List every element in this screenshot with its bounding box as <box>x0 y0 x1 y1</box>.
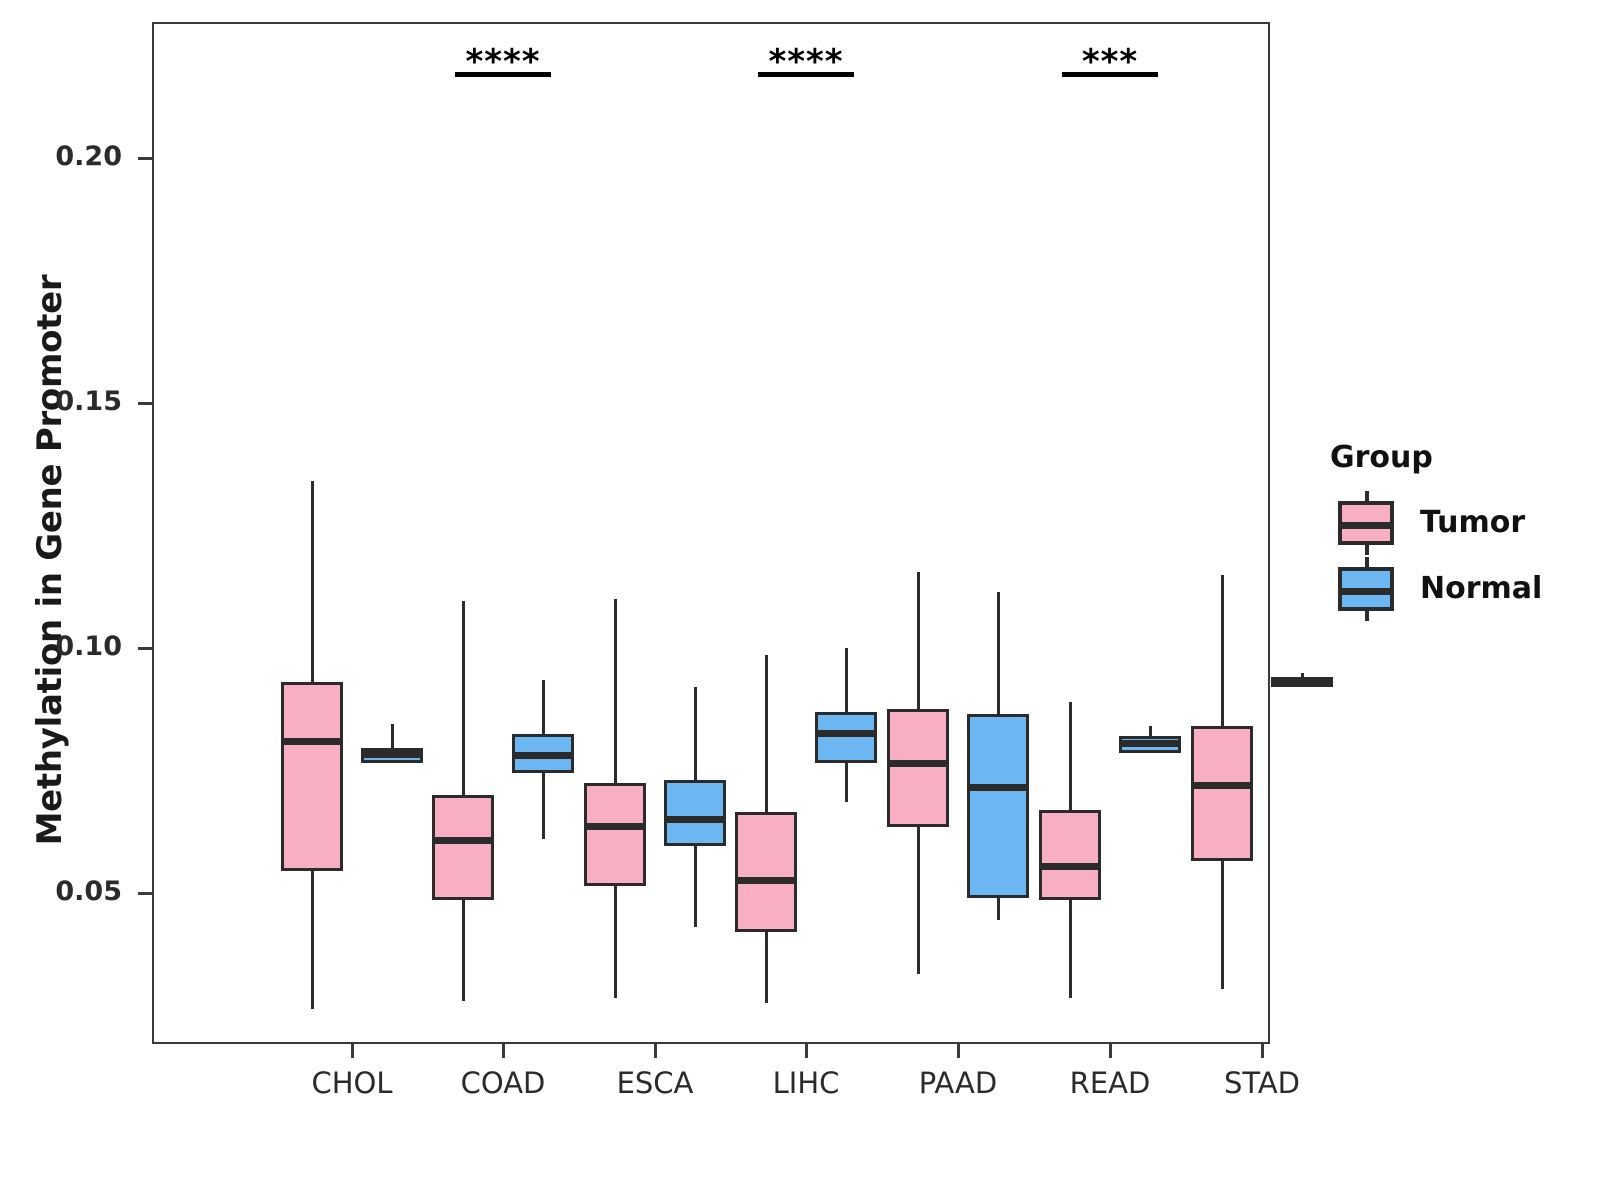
box-rect <box>735 812 797 932</box>
plot-panel <box>152 22 1270 1044</box>
y-axis-tick-label: 0.15 <box>12 386 122 417</box>
box-rect <box>1191 726 1253 861</box>
significance-stars-coad: **** <box>413 45 593 79</box>
box-rect <box>1039 810 1101 901</box>
median-line <box>967 784 1029 791</box>
legend-item-normal[interactable]: Normal <box>1330 559 1590 625</box>
box-rect <box>887 709 949 827</box>
x-axis-tick <box>502 1044 505 1058</box>
legend-whisker-top <box>1365 491 1369 505</box>
legend-key-tumor <box>1338 501 1394 545</box>
legend-label-normal: Normal <box>1420 567 1542 611</box>
y-axis-tick <box>138 647 152 650</box>
x-axis-tick <box>351 1044 354 1058</box>
legend-whisker-top <box>1365 557 1369 571</box>
box-rect <box>664 780 726 846</box>
x-axis-tick <box>654 1044 657 1058</box>
median-line <box>664 816 726 823</box>
box-rect <box>281 682 343 871</box>
legend-item-tumor[interactable]: Tumor <box>1330 493 1590 559</box>
legend-whisker-bottom <box>1365 541 1369 555</box>
x-axis-tick <box>957 1044 960 1058</box>
median-line <box>887 760 949 767</box>
y-axis-title: Methylation in Gene Promoter <box>0 0 70 1200</box>
median-line <box>281 738 343 745</box>
y-axis-tick-label: 0.20 <box>12 141 122 172</box>
x-axis-tick <box>1109 1044 1112 1058</box>
median-line <box>815 730 877 737</box>
median-line <box>361 751 423 758</box>
legend-whisker-bottom <box>1365 607 1369 621</box>
median-line <box>1119 740 1181 747</box>
median-line <box>432 837 494 844</box>
legend-key-normal <box>1338 567 1394 611</box>
y-axis-tick <box>138 157 152 160</box>
legend: Group Tumor Normal <box>1330 440 1590 625</box>
median-line <box>1039 863 1101 870</box>
box-rect <box>967 714 1029 898</box>
significance-stars-read: *** <box>1020 45 1200 79</box>
y-axis-title-text: Methylation in Gene Promoter <box>30 210 70 910</box>
legend-label-tumor: Tumor <box>1420 501 1525 545</box>
y-axis-tick-label: 0.05 <box>12 876 122 907</box>
median-line <box>512 752 574 759</box>
median-line <box>1191 782 1253 789</box>
x-axis-tick <box>805 1044 808 1058</box>
box-rect <box>815 712 877 763</box>
legend-median-line <box>1342 588 1390 595</box>
x-axis-tick-label-lihc: LIHC <box>726 1066 886 1100</box>
y-axis-tick <box>138 402 152 405</box>
median-line <box>584 823 646 830</box>
box-rect <box>584 783 646 886</box>
median-line <box>735 877 797 884</box>
chart-root: Methylation in Gene Promoter 0.050.100.1… <box>0 0 1600 1200</box>
legend-title: Group <box>1330 440 1590 475</box>
x-axis-tick-label-coad: COAD <box>423 1066 583 1100</box>
x-axis-tick-label-read: READ <box>1030 1066 1190 1100</box>
y-axis-tick-label: 0.10 <box>12 631 122 662</box>
x-axis-tick-label-stad: STAD <box>1182 1066 1342 1100</box>
significance-stars-lihc: **** <box>716 45 896 79</box>
x-axis-tick-label-esca: ESCA <box>575 1066 735 1100</box>
median-line <box>1271 678 1333 685</box>
x-axis-tick-label-chol: CHOL <box>272 1066 432 1100</box>
box-rect <box>432 795 494 900</box>
legend-median-line <box>1342 522 1390 529</box>
x-axis-tick-label-paad: PAAD <box>878 1066 1038 1100</box>
y-axis-tick <box>138 892 152 895</box>
x-axis-tick <box>1261 1044 1264 1058</box>
